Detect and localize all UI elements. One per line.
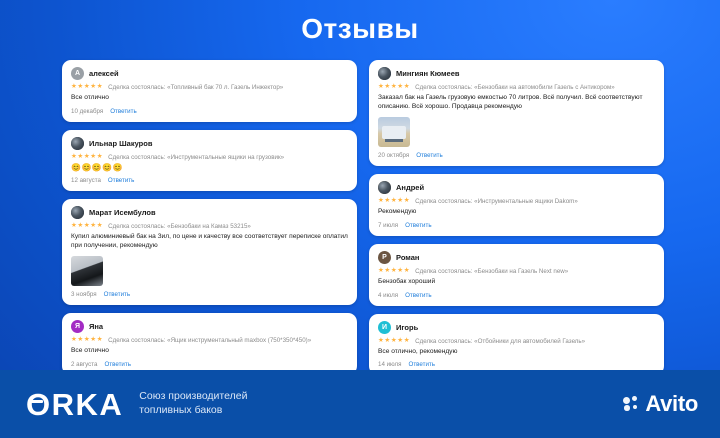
rating-stars: ★★★★★ <box>378 198 410 205</box>
review-text: Все отлично <box>71 347 348 356</box>
deal-text: Сделка состоялась: «Инструментальные ящи… <box>108 154 284 161</box>
review-card[interactable]: Мингиян Кюмеев ★★★★★ Сделка состоялась: … <box>369 60 664 166</box>
review-text: Рекомендую <box>378 208 655 217</box>
reviews-columns: А алексей ★★★★★ Сделка состоялась: «Топл… <box>62 60 664 375</box>
avito-dots-icon <box>623 396 640 412</box>
review-card[interactable]: Марат Исембулов ★★★★★ Сделка состоялась:… <box>62 199 357 305</box>
avito-logo: Avito <box>623 393 698 415</box>
review-text: Купил алюминиевый бак на Зил, по цене и … <box>71 233 348 251</box>
reply-link[interactable]: Ответить <box>405 222 431 229</box>
review-card[interactable]: А алексей ★★★★★ Сделка состоялась: «Топл… <box>62 60 357 122</box>
review-header: Марат Исембулов <box>71 206 348 219</box>
avatar <box>71 206 84 219</box>
review-footer: 4 июля Ответить <box>378 292 655 299</box>
avito-wordmark: Avito <box>645 393 698 415</box>
review-footer: 14 июля Ответить <box>378 361 655 368</box>
reply-link[interactable]: Ответить <box>104 361 130 368</box>
avatar: А <box>71 67 84 80</box>
review-meta: ★★★★★ Сделка состоялась: «Топливный бак … <box>71 84 348 91</box>
orka-logo: ORKA <box>26 389 123 420</box>
avatar <box>378 67 391 80</box>
review-header: Р Роман <box>378 251 655 264</box>
avatar: Р <box>378 251 391 264</box>
deal-text: Сделка состоялась: «Инструментальные ящи… <box>415 198 578 205</box>
review-text: Заказал бак на Газель грузовую емкостью … <box>378 94 655 112</box>
brand-tagline: Союз производителей топливных баков <box>139 390 247 418</box>
reviewer-name: Андрей <box>396 183 424 192</box>
review-text: Все отлично <box>71 94 348 103</box>
reply-link[interactable]: Ответить <box>416 152 442 159</box>
reviews-page: Отзывы А алексей ★★★★★ Сделка состоялась… <box>0 0 720 438</box>
reply-link[interactable]: Ответить <box>110 108 136 115</box>
review-meta: ★★★★★ Сделка состоялась: «Бензобаки на а… <box>378 84 655 91</box>
review-footer: 10 декабря Ответить <box>71 108 348 115</box>
deal-text: Сделка состоялась: «Отбойники для автомо… <box>415 338 585 345</box>
review-header: Ильнар Шакуров <box>71 137 348 150</box>
reviews-column-left: А алексей ★★★★★ Сделка состоялась: «Топл… <box>62 60 357 375</box>
rating-stars: ★★★★★ <box>378 338 410 345</box>
review-header: А алексей <box>71 67 348 80</box>
review-emoji: 😊😊😊😊😊 <box>71 164 348 172</box>
review-photo[interactable] <box>71 256 103 286</box>
review-date: 4 июля <box>378 292 398 299</box>
reply-link[interactable]: Ответить <box>409 361 435 368</box>
review-date: 2 августа <box>71 361 97 368</box>
reply-link[interactable]: Ответить <box>405 292 431 299</box>
review-footer: 7 июля Ответить <box>378 222 655 229</box>
review-date: 3 ноября <box>71 291 97 298</box>
review-date: 20 октября <box>378 152 409 159</box>
page-header: Отзывы <box>0 0 720 58</box>
review-photo[interactable] <box>378 117 410 147</box>
review-meta: ★★★★★ Сделка состоялась: «Отбойники для … <box>378 338 655 345</box>
deal-text: Сделка состоялась: «Бензобаки на автомоб… <box>415 84 615 91</box>
review-card[interactable]: Андрей ★★★★★ Сделка состоялась: «Инструм… <box>369 174 664 236</box>
review-meta: ★★★★★ Сделка состоялась: «Бензобаки на К… <box>71 223 348 230</box>
page-title: Отзывы <box>301 13 418 45</box>
review-card[interactable]: Ильнар Шакуров ★★★★★ Сделка состоялась: … <box>62 130 357 191</box>
rating-stars: ★★★★★ <box>71 84 103 91</box>
avatar: Я <box>71 320 84 333</box>
review-meta: ★★★★★ Сделка состоялась: «Ящик инструмен… <box>71 337 348 344</box>
reviewer-name: Марат Исембулов <box>89 208 156 217</box>
review-card[interactable]: Р Роман ★★★★★ Сделка состоялась: «Бензоб… <box>369 244 664 306</box>
rating-stars: ★★★★★ <box>71 154 103 161</box>
rating-stars: ★★★★★ <box>378 84 410 91</box>
review-text: Все отлично, рекомендую <box>378 348 655 357</box>
review-footer: 12 августа Ответить <box>71 177 348 184</box>
deal-text: Сделка состоялась: «Бензобаки на Газель … <box>415 268 568 275</box>
orka-logo-bar <box>31 400 43 403</box>
reviewer-name: Яна <box>89 322 103 331</box>
review-date: 10 декабря <box>71 108 103 115</box>
reviewer-name: Игорь <box>396 323 418 332</box>
review-footer: 3 ноября Ответить <box>71 291 348 298</box>
avatar <box>71 137 84 150</box>
avatar <box>378 181 391 194</box>
review-meta: ★★★★★ Сделка состоялась: «Бензобаки на Г… <box>378 268 655 275</box>
review-card[interactable]: И Игорь ★★★★★ Сделка состоялась: «Отбойн… <box>369 314 664 376</box>
page-footer: ORKA Союз производителей топливных баков… <box>0 370 720 438</box>
reviews-column-right: Мингиян Кюмеев ★★★★★ Сделка состоялась: … <box>369 60 664 375</box>
avatar: И <box>378 321 391 334</box>
review-date: 12 августа <box>71 177 101 184</box>
deal-text: Сделка состоялась: «Топливный бак 70 л. … <box>108 84 283 91</box>
rating-stars: ★★★★★ <box>71 337 103 344</box>
brand-block: ORKA Союз производителей топливных баков <box>26 389 247 420</box>
reply-link[interactable]: Ответить <box>108 177 134 184</box>
review-footer: 2 августа Ответить <box>71 361 348 368</box>
review-card[interactable]: Я Яна ★★★★★ Сделка состоялась: «Ящик инс… <box>62 313 357 375</box>
reviewer-name: Мингиян Кюмеев <box>396 69 460 78</box>
review-date: 7 июля <box>378 222 398 229</box>
review-date: 14 июля <box>378 361 402 368</box>
rating-stars: ★★★★★ <box>71 223 103 230</box>
reviewer-name: Роман <box>396 253 419 262</box>
deal-text: Сделка состоялась: «Ящик инструментальны… <box>108 337 311 344</box>
review-text: Бензобак хороший <box>378 278 655 287</box>
review-header: Я Яна <box>71 320 348 333</box>
tagline-line-2: топливных баков <box>139 404 247 418</box>
reviewer-name: алексей <box>89 69 119 78</box>
deal-text: Сделка состоялась: «Бензобаки на Камаз 5… <box>108 223 251 230</box>
review-footer: 20 октября Ответить <box>378 152 655 159</box>
review-header: И Игорь <box>378 321 655 334</box>
tagline-line-1: Союз производителей <box>139 390 247 404</box>
reply-link[interactable]: Ответить <box>104 291 130 298</box>
review-meta: ★★★★★ Сделка состоялась: «Инструментальн… <box>378 198 655 205</box>
review-header: Мингиян Кюмеев <box>378 67 655 80</box>
review-meta: ★★★★★ Сделка состоялась: «Инструментальн… <box>71 154 348 161</box>
review-header: Андрей <box>378 181 655 194</box>
rating-stars: ★★★★★ <box>378 268 410 275</box>
reviewer-name: Ильнар Шакуров <box>89 139 152 148</box>
